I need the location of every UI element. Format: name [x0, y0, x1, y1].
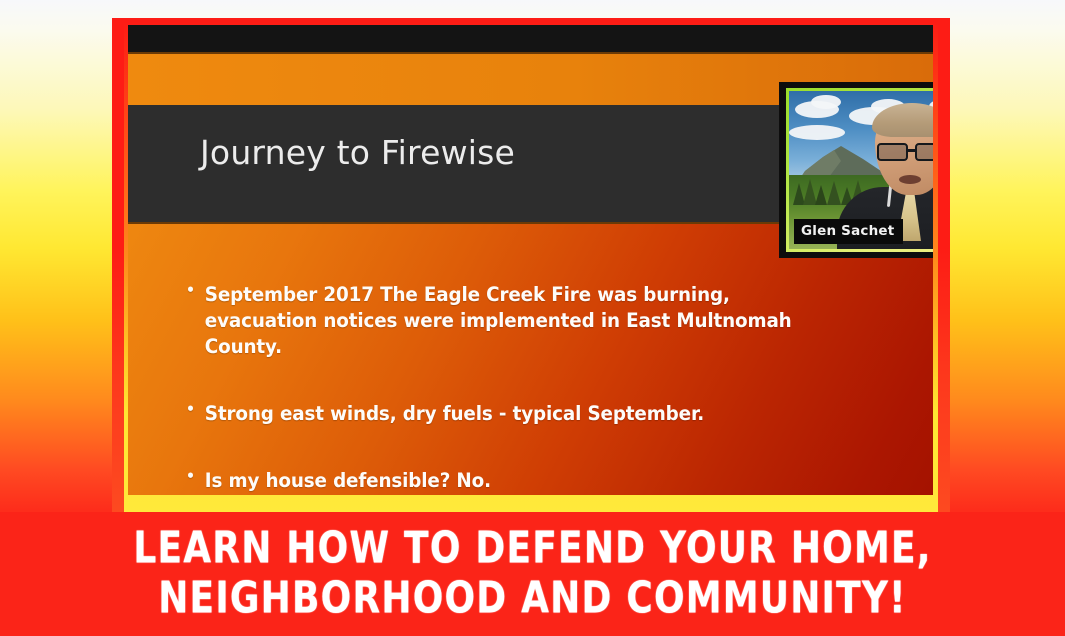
glasses-bridge [908, 149, 915, 152]
promo-graphic-root: Journey to Firewise September 2017 The E… [0, 0, 1065, 636]
cloud-icon [811, 95, 841, 109]
bullet-item: September 2017 The Eagle Creek Fire was … [186, 282, 844, 360]
speaker-video-thumbnail[interactable]: Glen Sachet [779, 82, 933, 258]
banner-line-1: LEARN HOW TO DEFEND YOUR HOME, [133, 524, 931, 573]
bullet-item: Strong east winds, dry fuels - typical S… [186, 401, 844, 427]
speaker-name-label: Glen Sachet [794, 219, 903, 244]
slide-title: Journey to Firewise [200, 133, 515, 172]
speaker-mouth [899, 175, 921, 184]
glasses-left-lens [877, 143, 908, 161]
video-green-border: Glen Sachet [786, 88, 933, 252]
presentation-slide: Journey to Firewise September 2017 The E… [128, 25, 933, 495]
call-to-action-banner: LEARN HOW TO DEFEND YOUR HOME, NEIGHBORH… [0, 512, 1065, 636]
slide-top-black-bar [128, 25, 933, 52]
bullet-item: Is my house defensible? No. [186, 468, 844, 494]
glasses-icon [875, 143, 933, 162]
slide-bullet-list: September 2017 The Eagle Creek Fire was … [186, 282, 886, 494]
glasses-right-lens [915, 143, 933, 161]
banner-line-2: NEIGHBORHOOD AND COMMUNITY! [158, 575, 907, 624]
slide-content-area: September 2017 The Eagle Creek Fire was … [128, 222, 933, 495]
video-feed: Glen Sachet [789, 91, 933, 249]
